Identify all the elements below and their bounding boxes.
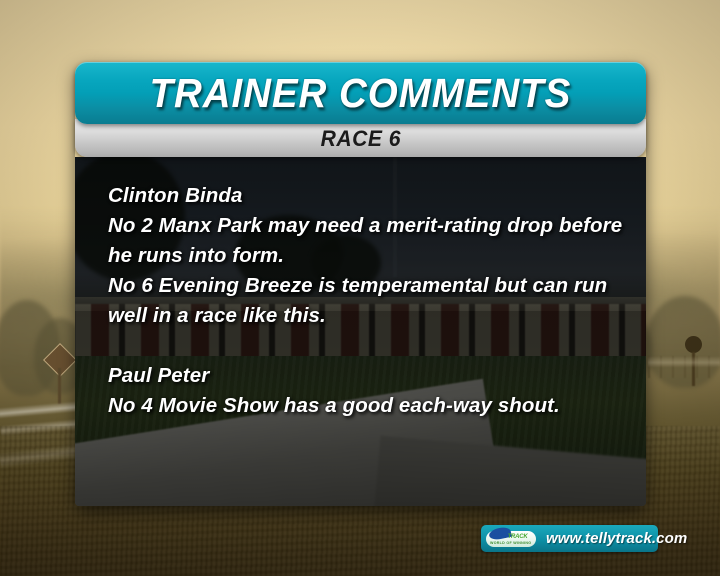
logo-brand-first: TELLY xyxy=(490,534,508,540)
panel-body: Clinton Binda No 2 Manx Park may need a … xyxy=(75,157,646,506)
page-title: TRAINER COMMENTS xyxy=(150,70,572,117)
trainer-comments-list: Clinton Binda No 2 Manx Park may need a … xyxy=(108,181,628,421)
background-fence xyxy=(648,356,720,378)
logo-tagline: WORLD OF WINNING xyxy=(490,541,531,545)
race-subtitle-bar: RACE 6 xyxy=(75,119,646,157)
tellytrack-logo-icon: TELLYTRACK WORLD OF WINNING xyxy=(484,528,538,550)
trainer-comment: No 2 Manx Park may need a merit-rating d… xyxy=(108,211,628,271)
race-subtitle: RACE 6 xyxy=(320,126,400,152)
comment-spacer xyxy=(108,331,628,361)
watermark-url: www.tellytrack.com xyxy=(546,530,687,547)
logo-brand-text: TELLYTRACK xyxy=(490,534,528,540)
trainer-name: Paul Peter xyxy=(108,361,628,391)
round-marker-sign xyxy=(685,336,702,353)
trainer-name: Clinton Binda xyxy=(108,181,628,211)
tellytrack-watermark: TELLYTRACK WORLD OF WINNING www.tellytra… xyxy=(481,525,658,552)
panel-title-bar: TRAINER COMMENTS xyxy=(75,62,646,124)
broadcast-screen: Clinton Binda No 2 Manx Park may need a … xyxy=(0,0,720,576)
trainer-comments-panel: Clinton Binda No 2 Manx Park may need a … xyxy=(75,62,646,506)
logo-brand-second: TRACK xyxy=(508,534,528,540)
distance-marker-post xyxy=(58,368,61,404)
trainer-comment: No 6 Evening Breeze is temperamental but… xyxy=(108,271,628,331)
trainer-comment: No 4 Movie Show has a good each-way shou… xyxy=(108,391,628,421)
